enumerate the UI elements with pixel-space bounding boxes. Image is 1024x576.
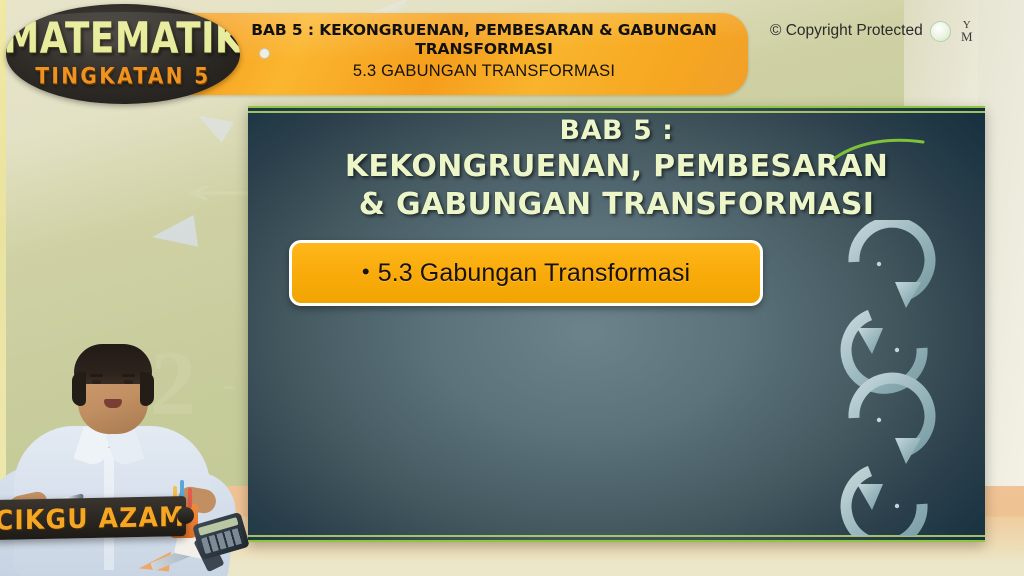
presenter-hair-right	[140, 372, 154, 406]
cycle-arrows-icon	[821, 220, 961, 536]
presentation-slide: BAB 5 : KEKONGRUENAN, PEMBESARAN & GABUN…	[248, 106, 985, 542]
slide-title-line2: KEKONGRUENAN, PEMBESARAN	[248, 148, 985, 186]
slide-bullet-label: 5.3 Gabungan Transformasi	[378, 259, 690, 287]
ym-watermark-icon: Y M	[958, 20, 976, 42]
slide-title-line1: BAB 5 :	[248, 114, 985, 148]
subject-logo: MATEMATIK TINGKATAN 5	[6, 4, 240, 104]
logo-subject-label: MATEMATIK	[6, 18, 240, 61]
logo-form-label: TINGKATAN 5	[35, 65, 210, 87]
screenshot-stage: 2 - CIKGU AZAM	[0, 0, 1024, 576]
copyright-seal-icon	[930, 21, 951, 42]
slide-title-line3: & GABUNGAN TRANSFORMASI	[248, 186, 985, 224]
slide-title-group: BAB 5 : KEKONGRUENAN, PEMBESARAN & GABUN…	[248, 114, 985, 224]
presenter-name-label: CIKGU AZAM	[0, 500, 185, 535]
presenter-eyebrow-right	[122, 374, 135, 377]
presenter-mouth	[104, 399, 122, 408]
header-chapter-title: BAB 5 : KEKONGRUENAN, PEMBESARAN & GABUN…	[228, 21, 740, 59]
slide-top-accent-line	[248, 111, 985, 113]
presenter-name-banner: CIKGU AZAM	[0, 496, 186, 540]
copyright-label: © Copyright Protected	[770, 22, 923, 40]
presenter-hair-left	[72, 372, 86, 406]
header-banner-text-group: BAB 5 : KEKONGRUENAN, PEMBESARAN & GABUN…	[228, 21, 740, 83]
watermark-dot-icon	[259, 48, 270, 59]
slide-bullet-text-row: •5.3 Gabungan Transformasi	[362, 259, 690, 288]
triangle-doodle-icon	[150, 215, 198, 253]
presenter-eye-left	[92, 380, 101, 384]
presenter-eye-right	[124, 380, 133, 384]
presenter-eyebrow-left	[90, 374, 103, 377]
ym-watermark-m: M	[958, 31, 976, 42]
copyright-notice: © Copyright Protected Y M	[770, 20, 976, 42]
header-topic-title: 5.3 GABUNGAN TRANSFORMASI	[228, 59, 740, 83]
slide-bullet-box: •5.3 Gabungan Transformasi	[289, 240, 763, 306]
pencil-prop-3	[188, 488, 192, 508]
bullet-marker-icon: •	[362, 259, 370, 284]
